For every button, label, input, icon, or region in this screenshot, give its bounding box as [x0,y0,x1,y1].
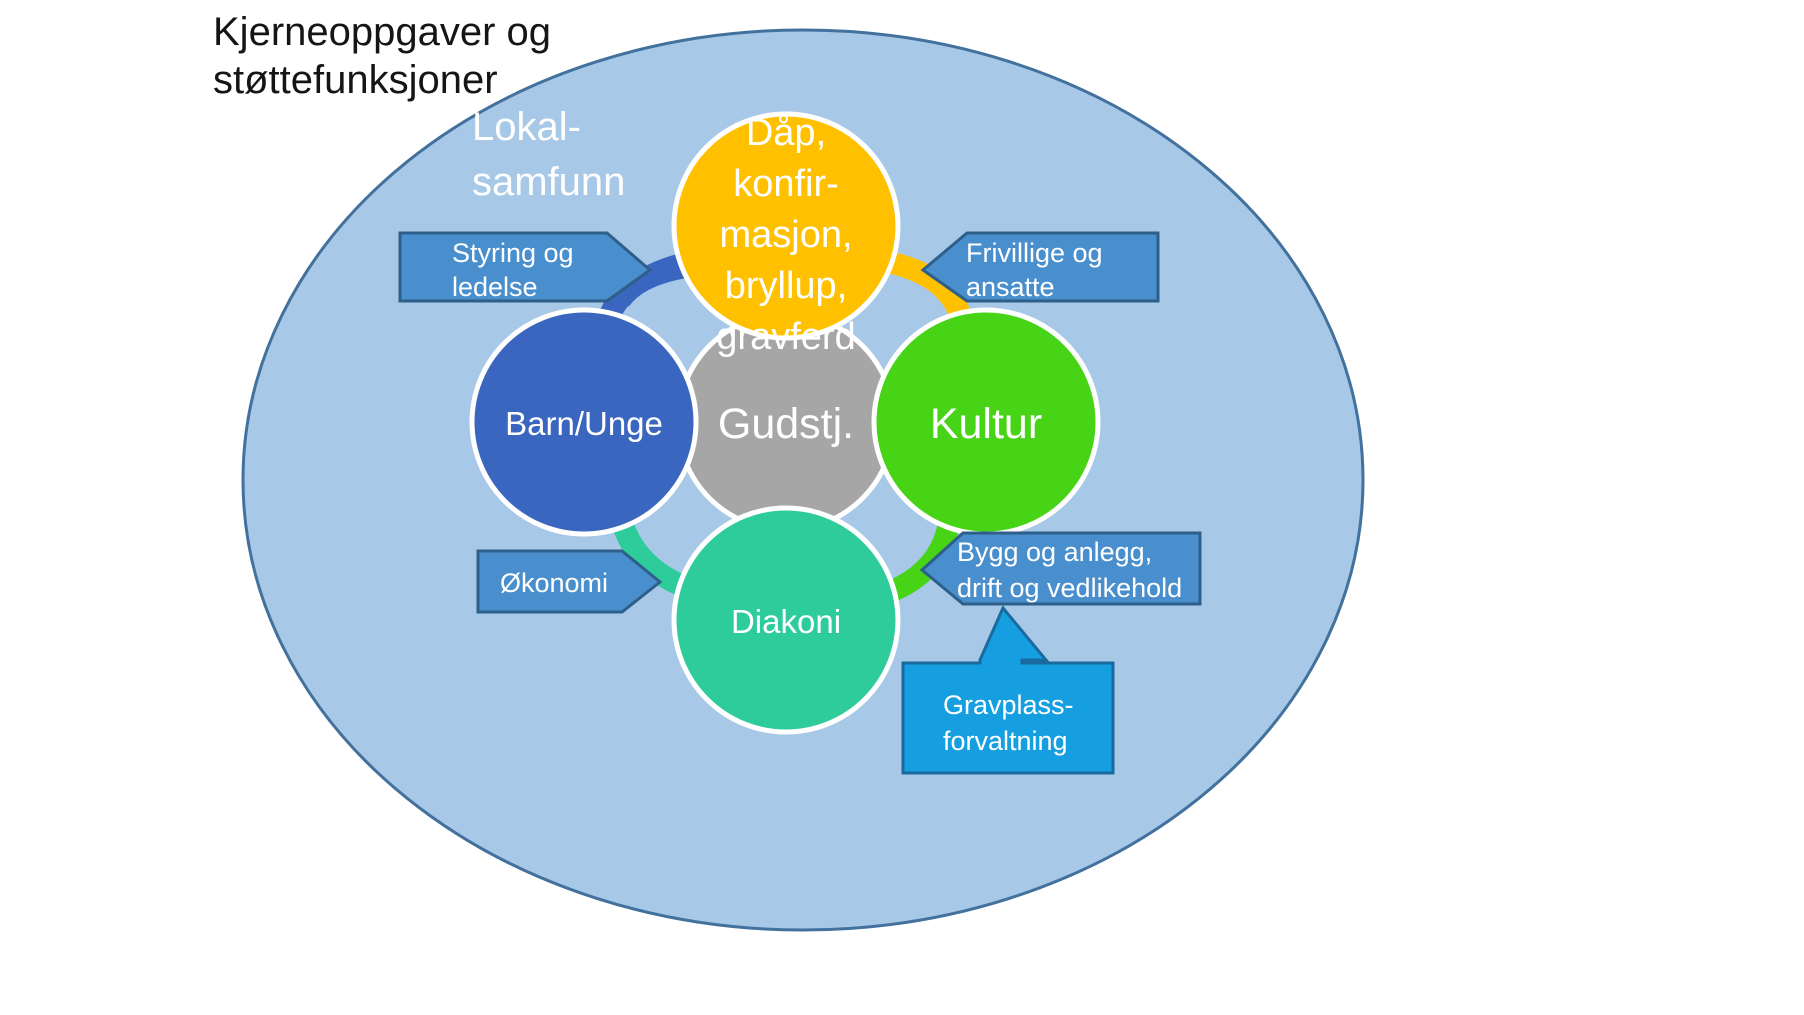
okonomi-label: Økonomi [500,568,608,598]
diakoni-label: Diakoni [731,603,841,640]
gravplass-forvaltning-line2: forvaltning [943,726,1068,756]
dap-line-2: konfir- [733,163,839,205]
lokalsamfunn-label-line1: Lokal- [472,105,581,149]
frivillige-og-ansatte-line2: ansatte [966,272,1055,302]
arrow-bygg-og-anlegg[interactable]: Bygg og anlegg, drift og vedlikehold [922,533,1200,604]
dap-line-4: bryllup, [725,265,848,307]
gravplass-forvaltning-line1: Gravplass- [943,690,1074,720]
lokalsamfunn-label-line2: samfunn [472,160,625,204]
core-tasks-support-functions-diagram: Kjerneoppgaver og støttefunksjoner Lokal… [0,0,1804,1015]
arrow-okonomi[interactable]: Økonomi [478,551,660,612]
kultur-label: Kultur [930,400,1042,448]
frivillige-og-ansatte-line1: Frivillige og [966,238,1103,268]
arrow-frivillige-og-ansatte[interactable]: Frivillige og ansatte [923,233,1158,302]
gudstj-label: Gudstj. [718,400,854,448]
dap-line-3: masjon, [719,214,852,256]
barn-unge-label: Barn/Unge [505,405,663,442]
bygg-og-anlegg-line1: Bygg og anlegg, [957,537,1152,567]
dap-line-5: gravferd [716,316,855,358]
arrow-styring-og-ledelse[interactable]: Styring og ledelse [400,233,650,302]
page-title-line1: Kjerneoppgaver og [213,10,551,54]
page-title-line2: støttefunksjoner [213,58,498,102]
styring-og-ledelse-line1: Styring og [452,238,574,268]
bygg-og-anlegg-line2: drift og vedlikehold [957,573,1182,603]
diagram-root: Kjerneoppgaver og støttefunksjoner Lokal… [0,0,1804,1015]
styring-og-ledelse-line2: ledelse [452,272,538,302]
dap-line-1: Dåp, [746,112,826,154]
